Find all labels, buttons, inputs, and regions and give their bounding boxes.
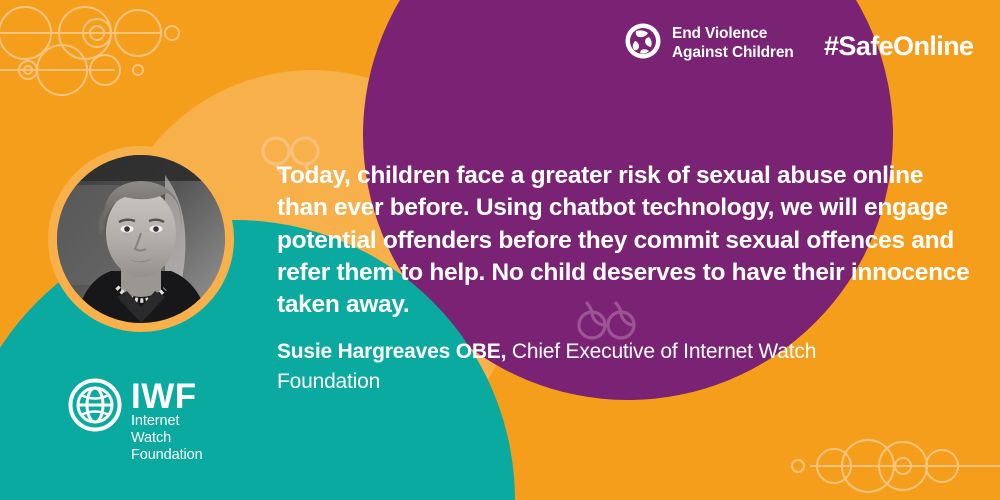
quote-text: Today, children face a greater risk of s… bbox=[277, 160, 977, 322]
iwf-line-2: Watch bbox=[131, 430, 203, 447]
iwf-logo: IWF Internet Watch Foundation bbox=[68, 378, 203, 465]
attribution-name: Susie Hargreaves OBE, bbox=[277, 340, 506, 363]
brand-line-1: End Violence bbox=[672, 25, 794, 44]
globe-icon bbox=[624, 22, 662, 65]
brand-line-2: Against Children bbox=[672, 44, 794, 63]
iwf-wordmark: IWF Internet Watch Foundation bbox=[131, 378, 203, 465]
quote-attribution: Susie Hargreaves OBE, Chief Executive of… bbox=[277, 337, 897, 398]
end-violence-wordmark: End Violence Against Children bbox=[672, 25, 794, 63]
iwf-initials: IWF bbox=[131, 380, 203, 413]
avatar bbox=[48, 146, 234, 332]
quote-block: Today, children face a greater risk of s… bbox=[277, 160, 977, 322]
globe-icon bbox=[68, 378, 122, 437]
susie-hargreaves-portrait bbox=[57, 155, 225, 323]
hashtag-safeonline: #SafeOnline bbox=[824, 31, 973, 62]
portrait-illustration bbox=[57, 155, 225, 323]
iwf-line-3: Foundation bbox=[131, 447, 203, 464]
end-violence-logo: End Violence Against Children bbox=[624, 22, 794, 65]
campaign-graphic: IWF Internet Watch Foundation End Violen… bbox=[0, 0, 1000, 500]
